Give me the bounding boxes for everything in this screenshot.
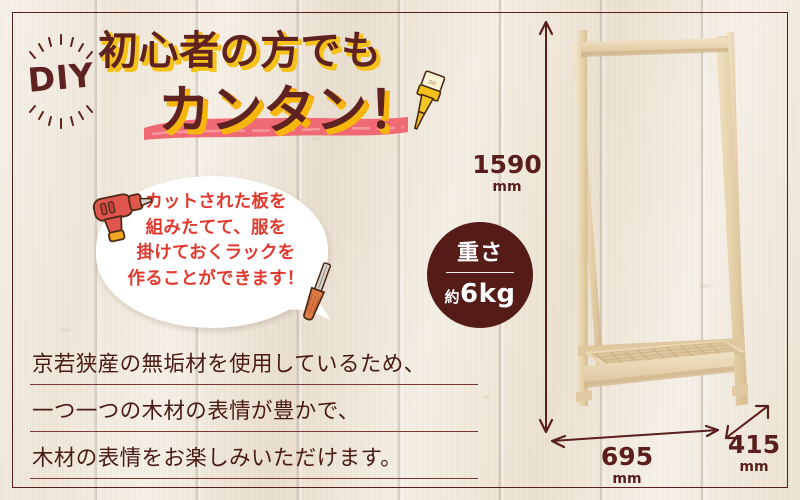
description-row: 木材の表情をお楽しみいただけます。 bbox=[30, 432, 478, 479]
paint-brush-icon: DIY bbox=[396, 68, 452, 144]
weight-label: 重さ bbox=[457, 243, 503, 265]
diy-badge: DIY bbox=[18, 24, 104, 130]
dimension-width-value: 695 bbox=[586, 444, 668, 469]
dimension-height-unit: mm bbox=[470, 180, 544, 194]
dimension-height-label: 1590 mm bbox=[470, 152, 544, 194]
headline-block: 初心者の方でも カンタン！ bbox=[96, 18, 436, 138]
description-row: 京若狭産の無垢材を使用しているため、 bbox=[30, 338, 478, 385]
dimension-height-value: 1590 bbox=[470, 152, 544, 177]
description-line-2: 一つ一つの木材の表情が豊かで、 bbox=[32, 394, 360, 425]
weight-badge: 重さ 約6kg bbox=[427, 222, 533, 328]
description-block: 京若狭産の無垢材を使用しているため、 一つ一つの木材の表情が豊かで、 木材の表情… bbox=[30, 338, 478, 479]
dimension-depth-label: 415 mm bbox=[722, 432, 786, 474]
description-row: 一つ一つの木材の表情が豊かで、 bbox=[30, 385, 478, 432]
description-line-3: 木材の表情をお楽しみいただけます。 bbox=[32, 441, 402, 472]
power-drill-icon bbox=[88, 184, 164, 246]
headline-line-2: カンタン！ bbox=[158, 68, 421, 143]
product-photo-clothes-rack bbox=[548, 14, 786, 444]
weight-divider bbox=[446, 272, 514, 273]
dimension-width-label: 695 mm bbox=[586, 444, 668, 486]
diy-label: DIY bbox=[16, 54, 105, 100]
diy-product-banner: DIY 初心者の方でも カンタン！ DIY カットされた板を bbox=[0, 0, 800, 500]
screwdriver-icon bbox=[294, 258, 340, 330]
weight-value: 約6kg bbox=[444, 281, 515, 307]
dimension-depth-value: 415 bbox=[722, 432, 786, 457]
dimension-width-unit: mm bbox=[586, 472, 668, 486]
weight-approx: 約 bbox=[444, 288, 460, 306]
weight-number: 6kg bbox=[460, 279, 516, 309]
description-line-1: 京若狭産の無垢材を使用しているため、 bbox=[32, 347, 426, 378]
dimension-depth-unit: mm bbox=[722, 460, 786, 474]
